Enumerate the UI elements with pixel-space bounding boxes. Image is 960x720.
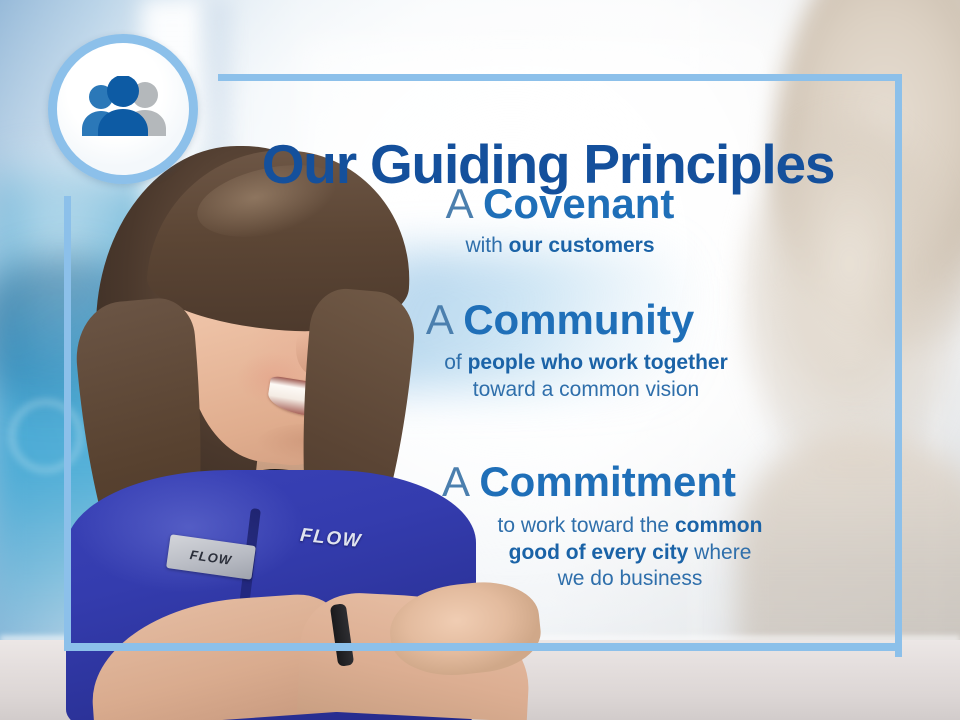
subtitle-line: with our customers (218, 233, 902, 260)
subtitle-text-bold: people who work together (468, 351, 728, 374)
subtitle-text-bold: common (675, 514, 763, 537)
principle-commitment-keyword: Commitment (479, 458, 736, 505)
principle-community-article: A (426, 296, 452, 343)
subtitle-text: where (688, 541, 751, 564)
principle-community: A Community of people who work together … (218, 298, 902, 403)
principle-commitment-subtitle: to work toward the common good of every … (218, 513, 902, 594)
guiding-principles-banner: FLOW FLOW Our Guiding Pr (0, 0, 960, 720)
principles-copy-block: Our Guiding Principles A Covenant with o… (218, 74, 902, 644)
subtitle-line: of people who work together (270, 350, 902, 377)
people-group-icon-badge (48, 34, 198, 184)
principle-covenant-subtitle: with our customers (218, 233, 902, 260)
principle-community-keyword: Community (463, 296, 694, 343)
frame-border-bottom (64, 643, 902, 651)
subtitle-text: with (465, 234, 508, 257)
principle-commitment: A Commitment to work toward the common g… (218, 460, 902, 593)
subtitle-text: toward a common vision (473, 378, 699, 401)
principle-covenant-title: A Covenant (218, 182, 902, 226)
principle-community-title: A Community (218, 298, 902, 342)
principle-covenant-keyword: Covenant (483, 180, 674, 227)
frame-border-left (64, 196, 71, 651)
subtitle-line: toward a common vision (270, 377, 902, 404)
principle-covenant: A Covenant with our customers (218, 182, 950, 260)
principle-commitment-title: A Commitment (218, 460, 902, 504)
subtitle-line: good of every city where (358, 540, 902, 567)
subtitle-text: to work toward the (498, 514, 675, 537)
subtitle-line: we do business (358, 566, 902, 593)
people-group-icon (75, 76, 171, 142)
principle-commitment-article: A (442, 458, 468, 505)
subtitle-line: to work toward the common (358, 513, 902, 540)
principle-covenant-article: A (446, 180, 472, 227)
subtitle-text-bold: good of every city (509, 541, 689, 564)
principle-community-subtitle: of people who work together toward a com… (218, 350, 902, 404)
subtitle-text: we do business (558, 567, 703, 590)
subtitle-text: of (444, 351, 467, 374)
subtitle-text-bold: our customers (509, 234, 655, 257)
